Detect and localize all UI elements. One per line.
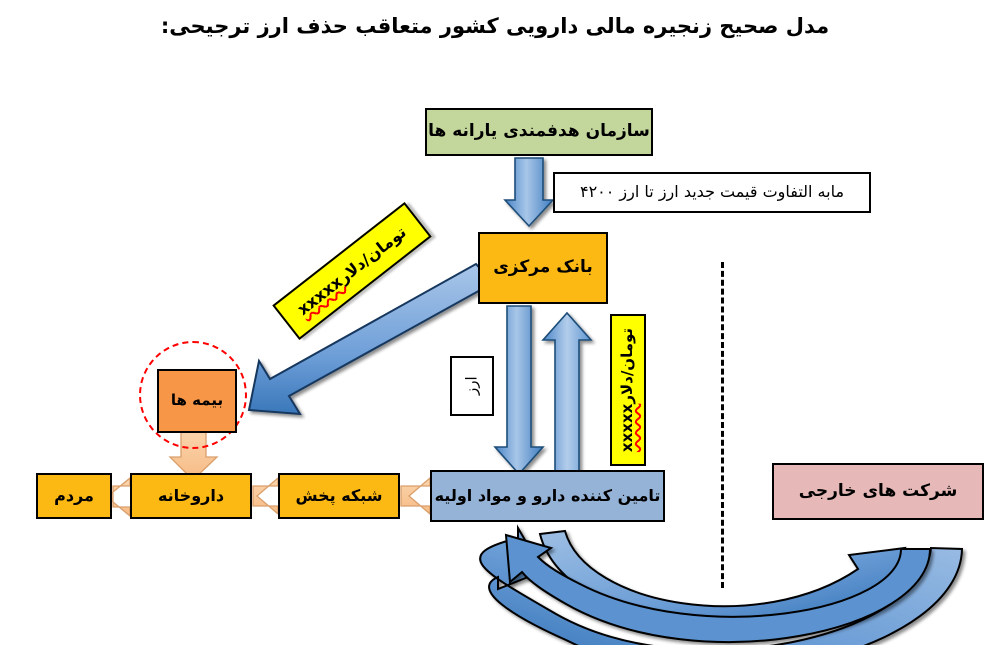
node-supplier[interactable]: تامین کننده دارو و مواد اولیه — [430, 470, 665, 522]
node-insurances[interactable]: بیمه ها — [157, 369, 237, 433]
node-currency-label-text: ارز — [463, 377, 480, 396]
arrow-foreign-to-supplier-ribbon — [506, 535, 930, 642]
node-central-bank-label: بانک مرکزی — [493, 258, 593, 278]
node-supplier-label: تامین کننده دارو و مواد اولیه — [435, 487, 661, 505]
node-insurances-label: بیمه ها — [171, 392, 223, 409]
node-people-label: مردم — [54, 487, 94, 505]
node-subsidy-organization[interactable]: سازمان هدفمندی یارانه ها — [425, 108, 653, 156]
node-foreign-companies[interactable]: شرکت های خارجی — [772, 463, 984, 520]
node-pharmacy-label: داروخانه — [158, 487, 224, 505]
domestic-foreign-divider — [721, 262, 724, 588]
node-central-bank[interactable]: بانک مرکزی — [478, 232, 608, 304]
rate-tag-from-supplier-amount: xxxxx — [619, 404, 636, 452]
node-price-difference-note: مابه التفاوت قیمت جدید ارز تا ارز ۴۲۰۰ — [553, 172, 871, 213]
node-distribution-network-label: شبکه پخش — [296, 487, 383, 505]
node-pharmacy[interactable]: داروخانه — [130, 473, 252, 519]
node-currency-label: ارز — [450, 356, 494, 416]
node-people[interactable]: مردم — [36, 473, 112, 519]
node-subsidy-organization-label: سازمان هدفمندی یارانه ها — [428, 122, 650, 142]
diagram-canvas: مدل صحیح زنجیره مالی دارویی کشور متعاقب … — [0, 0, 990, 645]
rate-tag-from-supplier: تومان/دلارxxxxx — [610, 314, 646, 466]
node-price-difference-note-label: مابه التفاوت قیمت جدید ارز تا ارز ۴۲۰۰ — [580, 183, 844, 201]
connector-arrows-secondary — [0, 0, 990, 645]
node-distribution-network[interactable]: شبکه پخش — [278, 473, 400, 519]
node-foreign-companies-label: شرکت های خارجی — [799, 482, 958, 502]
rate-tag-from-supplier-unit: تومان/دلار — [619, 328, 636, 404]
